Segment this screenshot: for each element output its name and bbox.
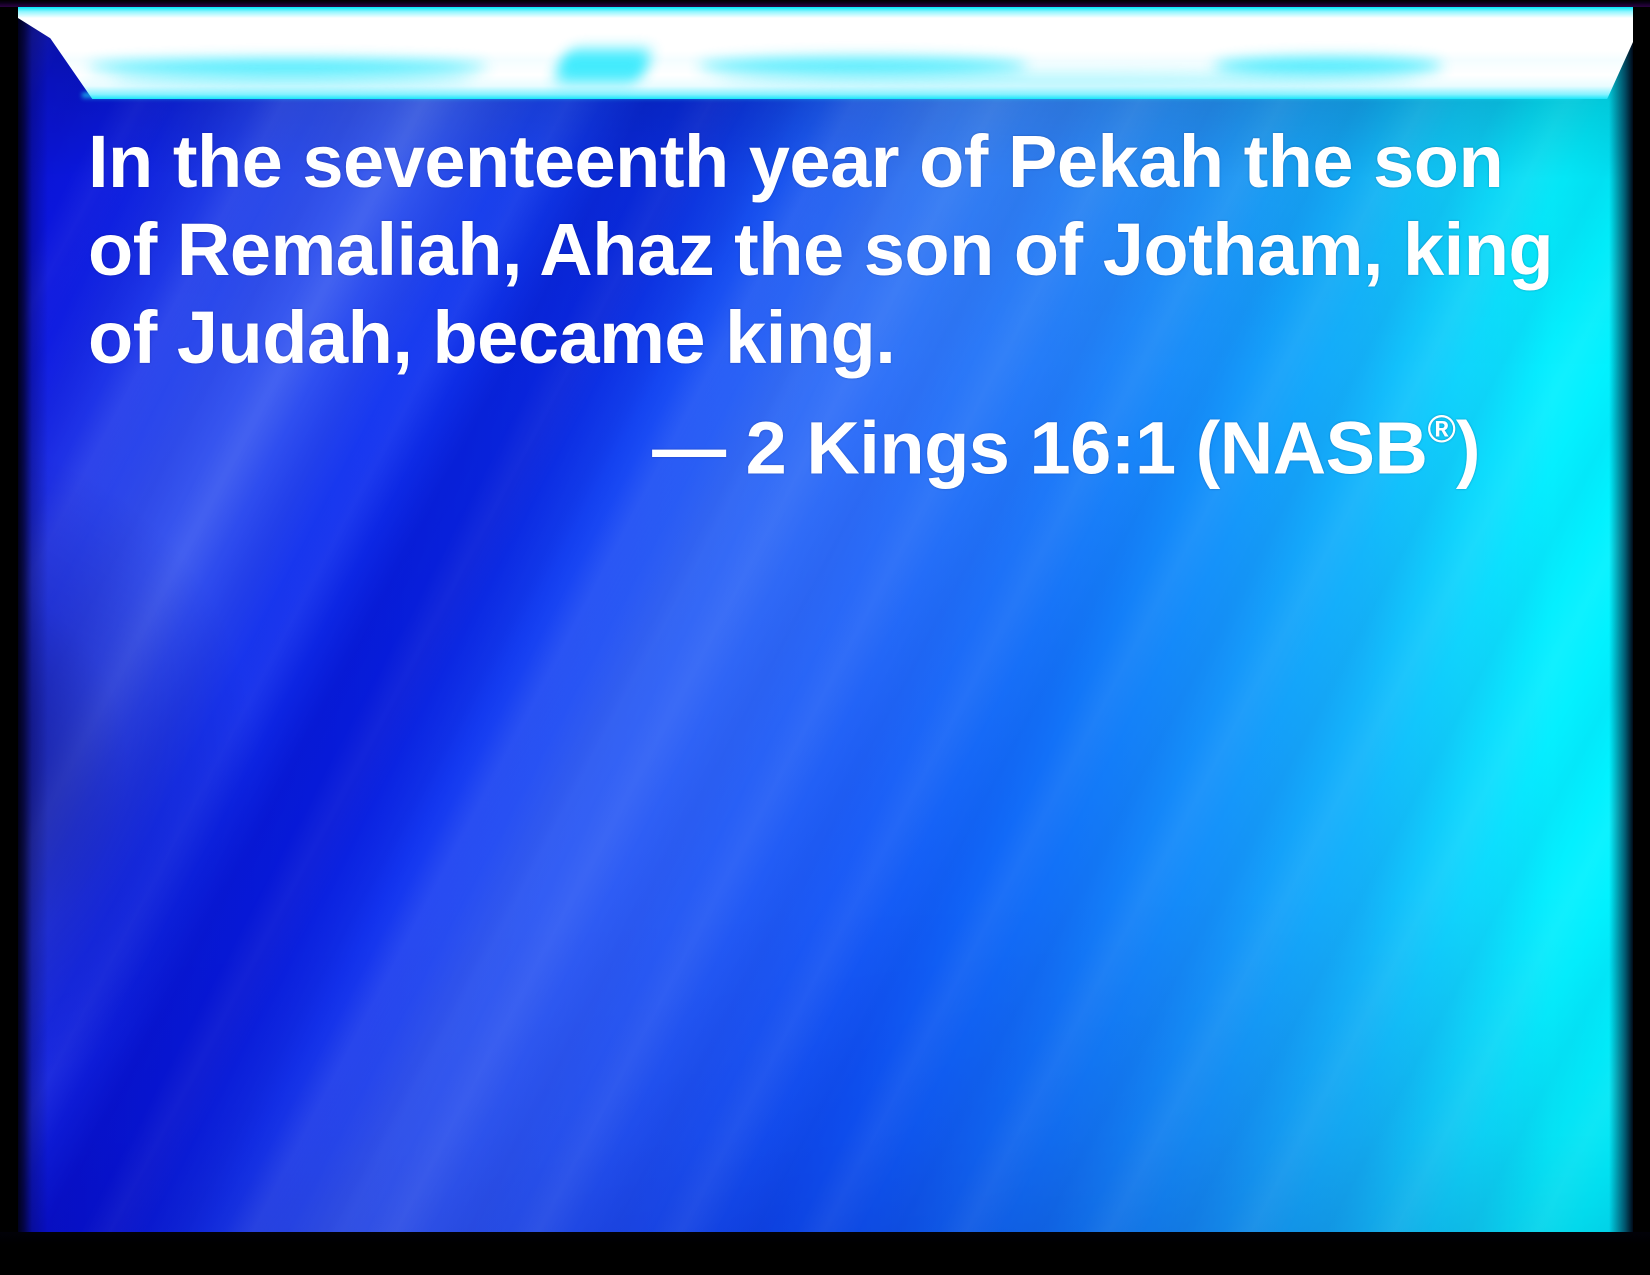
verse-line-1: In the seventeenth year of Pekah the son	[88, 118, 1548, 206]
glow-wisp	[718, 73, 1418, 85]
glow-wisp	[552, 49, 653, 83]
top-glow-band	[18, 7, 1633, 99]
top-border-hairline	[0, 0, 1650, 7]
registered-trademark-icon: ®	[1427, 408, 1455, 451]
glow-core	[18, 7, 1633, 99]
glow-wisp	[1213, 57, 1443, 75]
verse-slide: In the seventeenth year of Pekah the son…	[0, 0, 1650, 1275]
citation-closing-paren: )	[1456, 407, 1480, 490]
verse-line-2: of Remaliah, Ahaz the son of Jotham, kin…	[88, 206, 1548, 294]
verse-citation: — 2 Kings 16:1 (NASB®)	[88, 386, 1548, 493]
glow-wisp	[113, 73, 473, 85]
bottom-border-band	[0, 1232, 1650, 1275]
citation-dash: —	[652, 407, 726, 490]
citation-reference: 2 Kings 16:1 (NASB	[726, 407, 1428, 490]
verse-text-block: In the seventeenth year of Pekah the son…	[88, 118, 1548, 493]
verse-line-3: of Judah, became king.	[88, 294, 1548, 382]
